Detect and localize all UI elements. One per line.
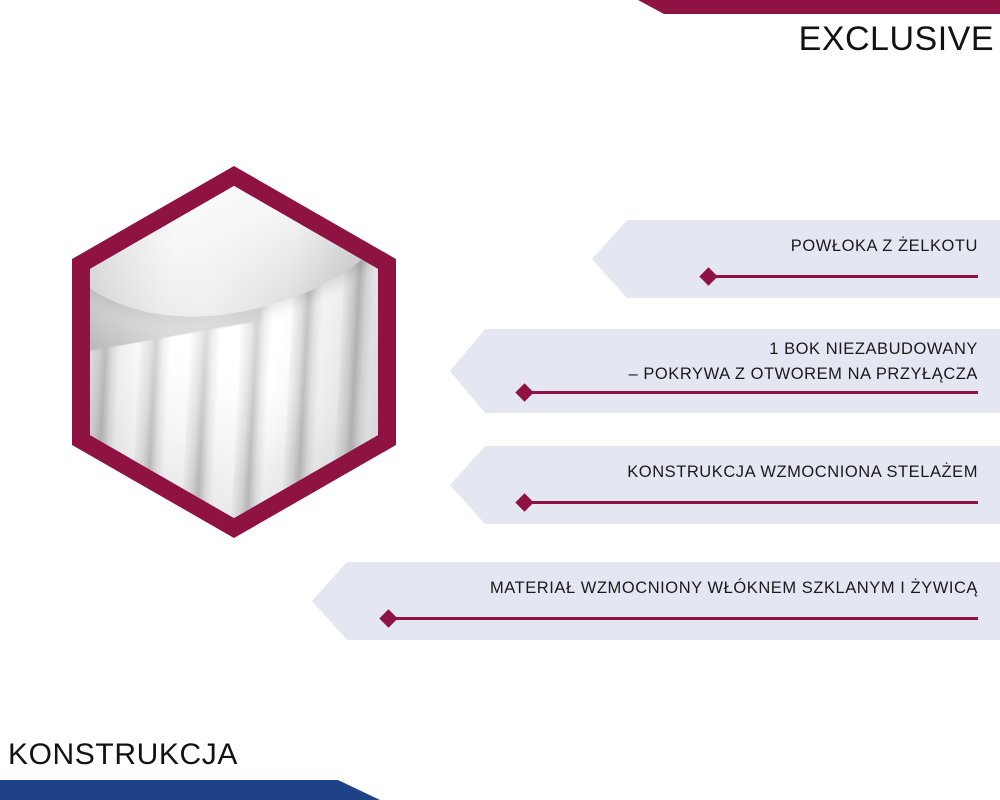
callout-open-side-body: 1 BOK NIEZABUDOWANY – POKRYWA Z OTWOREM … [450,329,1000,413]
callout-frame-reinforced-rule [524,501,978,504]
header-accent-bar [620,0,1000,14]
callout-coating[interactable]: POWŁOKA Z ŻELKOTU [592,220,1000,298]
callout-coating-body: POWŁOKA Z ŻELKOTU [592,220,1000,298]
callout-frame-reinforced-label: KONSTRUKCJA WZMOCNIONA STELAŻEM [627,460,978,485]
callout-open-side-rule [524,391,978,394]
callout-frame-reinforced[interactable]: KONSTRUKCJA WZMOCNIONA STELAŻEM [450,446,1000,524]
slide-root: EXCLUSIVE POWŁOKA Z ŻELKOTU 1 BOK NIEZAB… [0,0,1000,800]
callout-open-side-line1: 1 BOK NIEZABUDOWANY [629,337,979,362]
footer-title: KONSTRUKCJA [8,740,238,770]
callout-material[interactable]: MATERIAŁ WZMOCNIONY WŁÓKNEM SZKLANYM I Ż… [312,562,1000,640]
product-image-hexagon [72,166,396,538]
callout-frame-reinforced-body: KONSTRUKCJA WZMOCNIONA STELAŻEM [450,446,1000,524]
footer-accent-bar [0,780,380,800]
callout-material-body: MATERIAŁ WZMOCNIONY WŁÓKNEM SZKLANYM I Ż… [312,562,1000,640]
callout-open-side-marker [515,383,533,401]
callout-material-marker [379,609,397,627]
callout-open-side-line2: – POKRYWA Z OTWOREM NA PRZYŁĄCZA [629,362,979,387]
callout-coating-marker [699,267,717,285]
callout-coating-rule [708,275,978,278]
callout-frame-reinforced-marker [515,493,533,511]
callout-material-rule [388,617,978,620]
callout-coating-label: POWŁOKA Z ŻELKOTU [791,234,978,259]
callout-open-side-label: 1 BOK NIEZABUDOWANY – POKRYWA Z OTWOREM … [629,337,979,387]
callout-open-side[interactable]: 1 BOK NIEZABUDOWANY – POKRYWA Z OTWOREM … [450,329,1000,413]
page-title: EXCLUSIVE [799,22,994,56]
callout-material-label: MATERIAŁ WZMOCNIONY WŁÓKNEM SZKLANYM I Ż… [490,576,978,601]
